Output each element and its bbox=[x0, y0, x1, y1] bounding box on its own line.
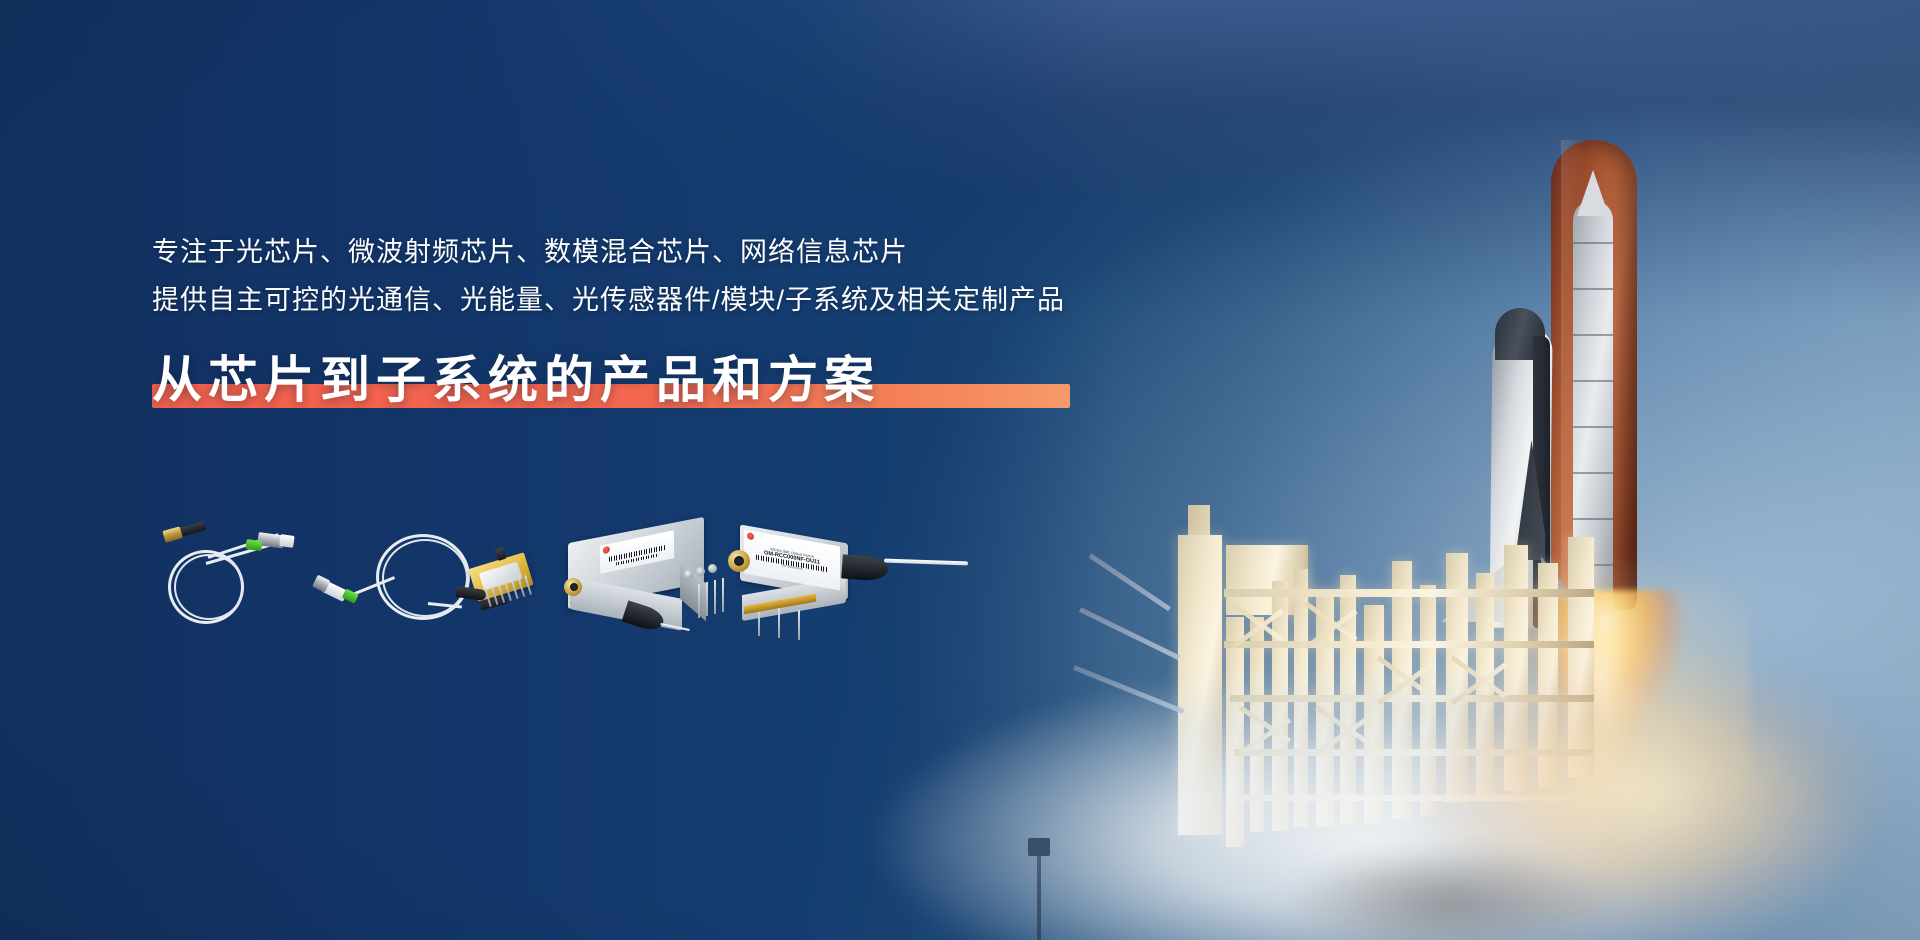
brand-logo-dot bbox=[603, 546, 610, 554]
product-rf-optical-module bbox=[548, 526, 748, 646]
floodlight-pole-icon bbox=[1037, 852, 1041, 940]
booster-nose-cone-icon bbox=[1577, 170, 1609, 216]
hero-headline: 从芯片到子系统的产品和方案 bbox=[152, 346, 880, 414]
product-butterfly-laser bbox=[450, 544, 560, 644]
brand-logo-dot bbox=[747, 532, 754, 540]
hero-subline-1: 专注于光芯片、微波射频芯片、数模混合芯片、网络信息芯片 bbox=[152, 228, 1152, 276]
product-optical-receiver-module: 40Gb/s DML Optical Rx/mA OM-RCC000NF-OU1… bbox=[720, 520, 1000, 650]
hero-headline-wrap: 从芯片到子系统的产品和方案 bbox=[152, 346, 880, 414]
hero-banner: 专注于光芯片、微波射频芯片、数模混合芯片、网络信息芯片 提供自主可控的光通信、光… bbox=[0, 0, 1920, 940]
smoke-dark-icon bbox=[1240, 820, 1660, 940]
product-fiber-pigtail-lc bbox=[150, 520, 310, 630]
product-showcase-row: 40Gb/s DML Optical Rx/mA OM-RCC000NF-OU1… bbox=[150, 520, 1000, 670]
hero-copy-block: 专注于光芯片、微波射频芯片、数模混合芯片、网络信息芯片 提供自主可控的光通信、光… bbox=[152, 228, 1152, 414]
hero-subline-2: 提供自主可控的光通信、光能量、光传感器件/模块/子系统及相关定制产品 bbox=[152, 276, 1152, 324]
